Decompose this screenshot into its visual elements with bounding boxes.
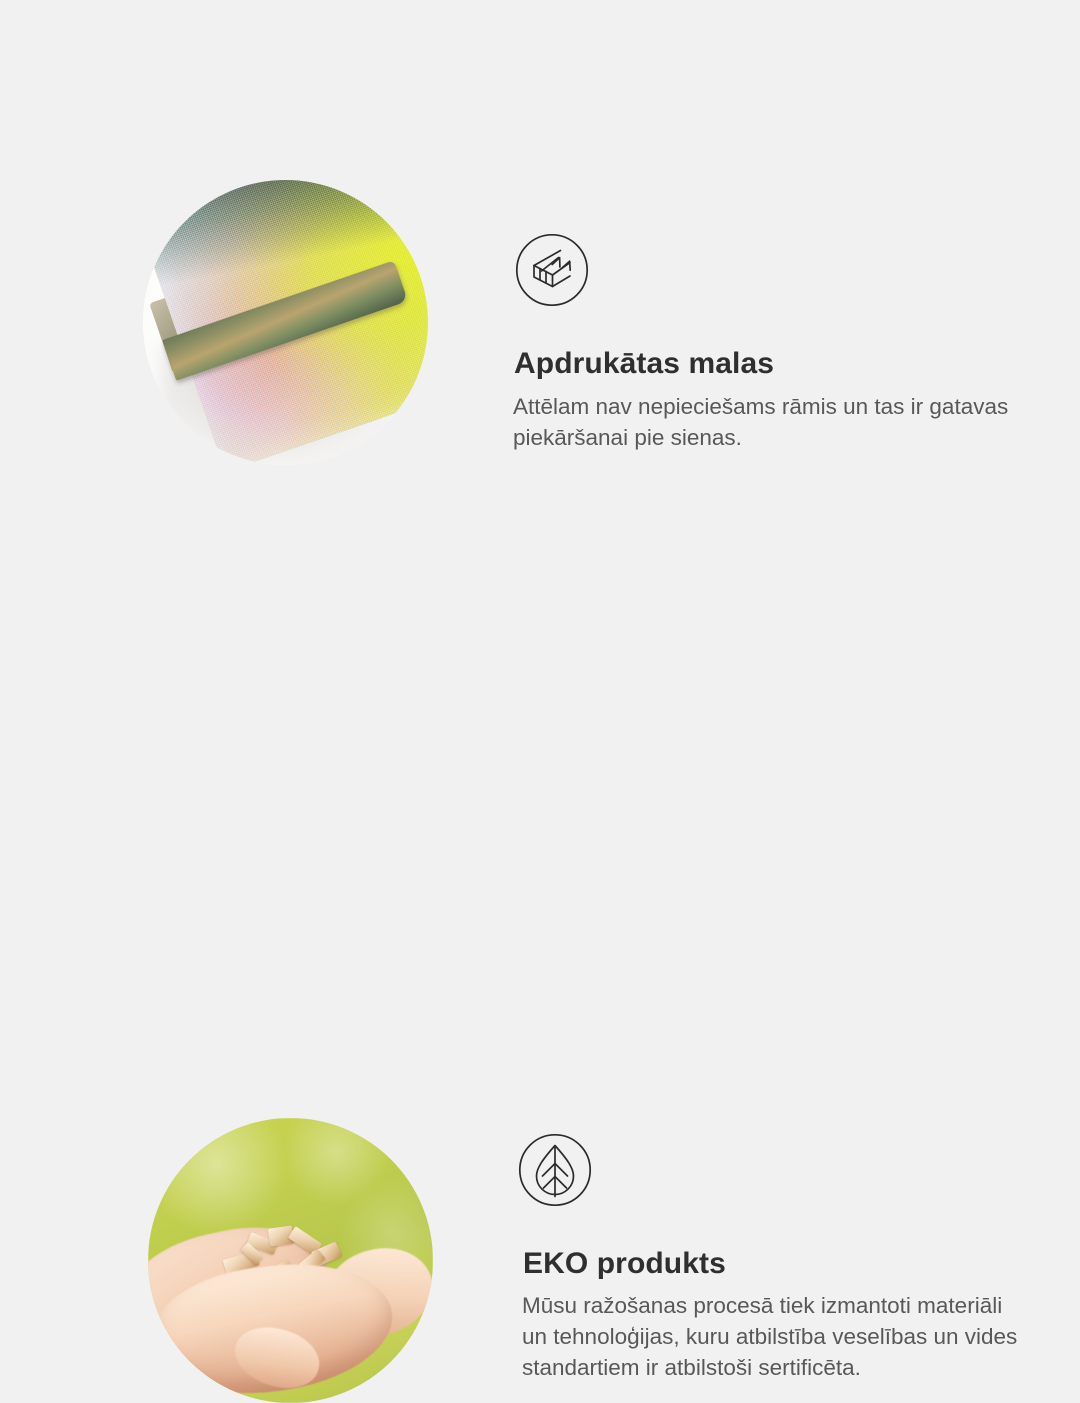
feature-description-printed-edges: Attēlam nav nepieciešams rāmis un tas ir… [513, 391, 1013, 453]
feature-title-eco-product: EKO produkts [523, 1247, 726, 1281]
feature-description-eco-product: Mūsu ražošanas procesā tiek izmantoti ma… [522, 1290, 1022, 1383]
feature-list: Apdrukātas malas Attēlam nav nepieciešam… [0, 0, 1080, 1080]
canvas-print-corner-photo [143, 180, 428, 465]
leaf-icon [517, 1132, 593, 1208]
feature-block-printed-edges: Apdrukātas malas Attēlam nav nepieciešam… [0, 0, 1080, 540]
canvas-wrapped-edges-icon [514, 232, 590, 308]
hands-holding-wood-chips-photo [148, 1118, 433, 1403]
feature-block-eco-product: EKO produkts Mūsu ražošanas procesā tiek… [0, 540, 1080, 1080]
feature-title-printed-edges: Apdrukātas malas [514, 347, 774, 381]
